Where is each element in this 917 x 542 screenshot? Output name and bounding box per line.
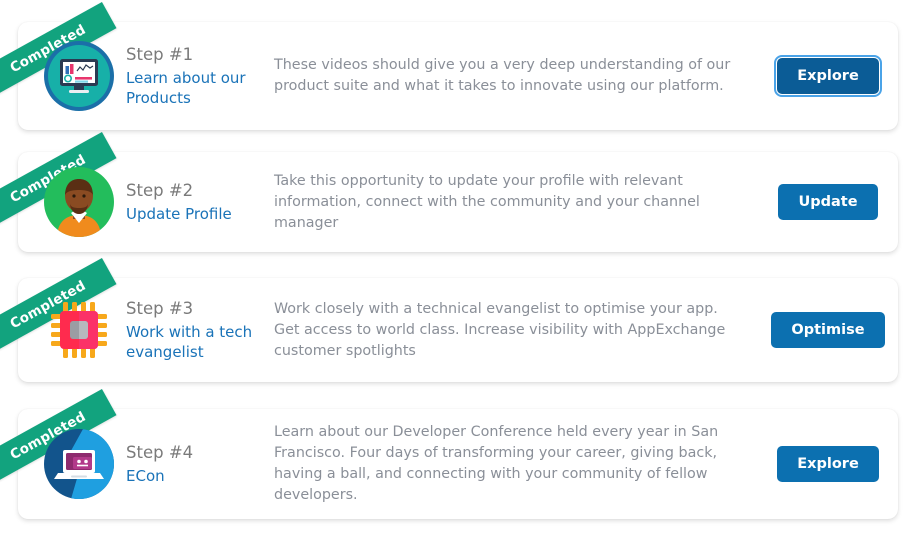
step-icon-container-2 [18,166,126,238]
step-title-link-3[interactable]: Work with a tech evangelist [126,322,260,362]
step-icon-container-3 [18,294,126,366]
step-number-2: Step #2 [126,180,260,202]
step-number-3: Step #3 [126,298,260,320]
user-avatar-icon [43,166,115,238]
step-action-container-2: Update [758,184,898,220]
step-description-container-3: Work closely with a technical evangelist… [266,299,758,362]
step-info-1: Step #1 Learn about our Products [126,44,266,108]
step-title-link-1[interactable]: Learn about our Products [126,68,260,108]
step-description-3: Work closely with a technical evangelist… [274,299,740,362]
step-title-link-4[interactable]: ECon [126,466,260,486]
step-description-4: Learn about our Developer Conference hel… [274,422,740,506]
step-action-container-3: Optimise [758,312,898,348]
step-number-1: Step #1 [126,44,260,66]
step-description-container-2: Take this opportunity to update your pro… [266,171,758,234]
explore-button-4[interactable]: Explore [777,446,879,482]
step-info-3: Step #3 Work with a tech evangelist [126,298,266,362]
step-card-3[interactable]: Completed [18,278,898,382]
laptop-presentation-icon [43,428,115,500]
step-icon-container-4 [18,428,126,500]
step-info-4: Step #4 ECon [126,442,266,486]
step-card-4[interactable]: Completed [18,409,898,519]
step-description-2: Take this opportunity to update your pro… [274,171,740,234]
step-action-container-4: Explore [758,446,898,482]
step-info-2: Step #2 Update Profile [126,180,266,224]
step-title-link-2[interactable]: Update Profile [126,204,260,224]
onboarding-steps-page: Completed [0,0,917,542]
explore-button-1[interactable]: Explore [777,58,879,94]
step-description-container-4: Learn about our Developer Conference hel… [266,422,758,506]
optimise-button-3[interactable]: Optimise [771,312,884,348]
microchip-icon [43,294,115,366]
step-description-container-1: These videos should give you a very deep… [266,55,758,97]
update-button-2[interactable]: Update [778,184,877,220]
step-card-2[interactable]: Completed [18,152,898,252]
step-description-1: These videos should give you a very deep… [274,55,740,97]
step-number-4: Step #4 [126,442,260,464]
monitor-analytics-icon [43,40,115,112]
step-action-container-1: Explore [758,58,898,94]
step-card-1[interactable]: Completed [18,22,898,130]
step-icon-container-1 [18,40,126,112]
